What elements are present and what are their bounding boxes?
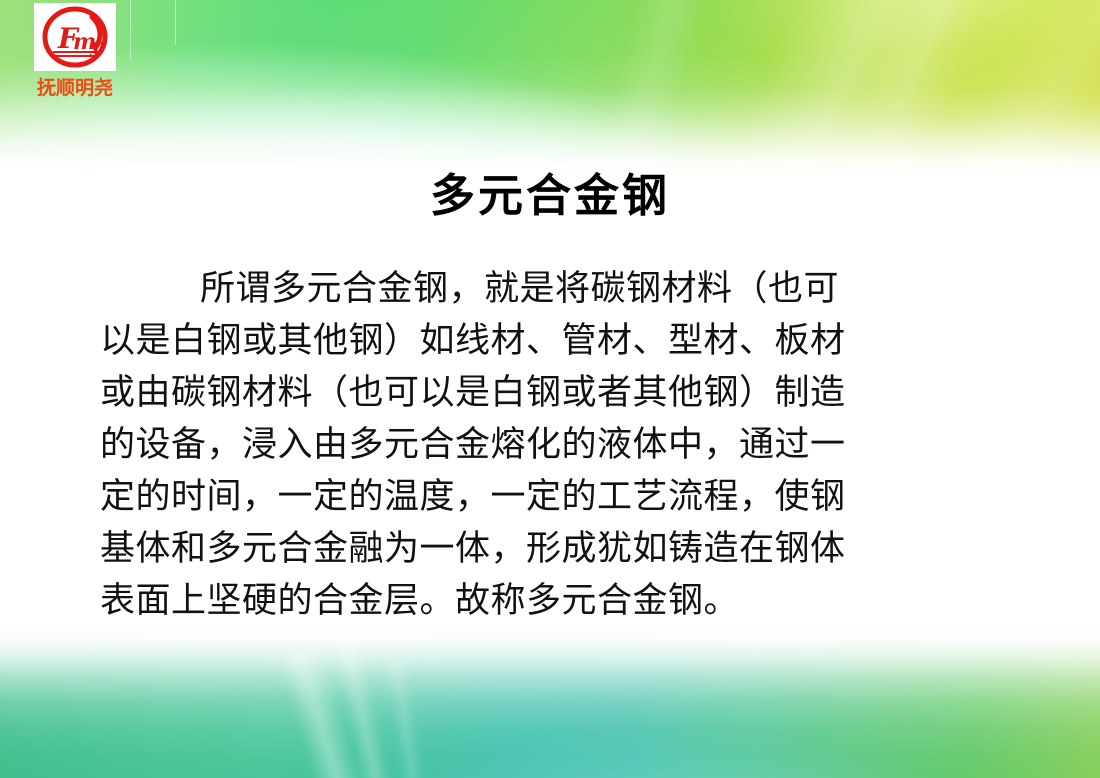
slide-content: 多元合金钢 所谓多元合金钢，就是将碳钢材料（也可 以是白钢或其他钢）如线材、管材… — [0, 155, 1100, 627]
band-bottom-white-fade — [0, 628, 1100, 778]
bottom-decorative-band — [0, 628, 1100, 778]
logo-caption: 抚顺明尧 — [25, 73, 125, 100]
body-line: 所谓多元合金钢，就是将碳钢材料（也可 — [100, 263, 1000, 315]
svg-text:y: y — [89, 33, 103, 57]
slide-body-text: 所谓多元合金钢，就是将碳钢材料（也可 以是白钢或其他钢）如线材、管材、型材、板材… — [100, 263, 1000, 627]
presentation-slide: F m y 抚顺明尧 多元合金钢 所谓多元合金钢，就是将碳钢材料（也可 以是白钢… — [0, 0, 1100, 778]
fmy-logo-icon: F m y — [34, 3, 116, 71]
body-line: 以是白钢或其他钢）如线材、管材、型材、板材 — [100, 315, 1000, 367]
body-line: 的设备，浸入由多元合金熔化的液体中，通过一 — [100, 419, 1000, 471]
body-line: 表面上坚硬的合金层。故称多元合金钢。 — [100, 575, 1000, 627]
slide-title: 多元合金钢 — [0, 169, 1100, 223]
top-decorative-band — [0, 0, 1100, 175]
body-line: 或由碳钢材料（也可以是白钢或者其他钢）制造 — [100, 367, 1000, 419]
company-logo: F m y 抚顺明尧 — [25, 3, 125, 100]
band-top-white-fade — [0, 0, 1100, 175]
body-line: 基体和多元合金融为一体，形成犹如铸造在钢体 — [100, 523, 1000, 575]
body-line: 定的时间，一定的温度，一定的工艺流程，使钢 — [100, 471, 1000, 523]
body-paragraph: 所谓多元合金钢，就是将碳钢材料（也可 以是白钢或其他钢）如线材、管材、型材、板材… — [100, 263, 1000, 627]
